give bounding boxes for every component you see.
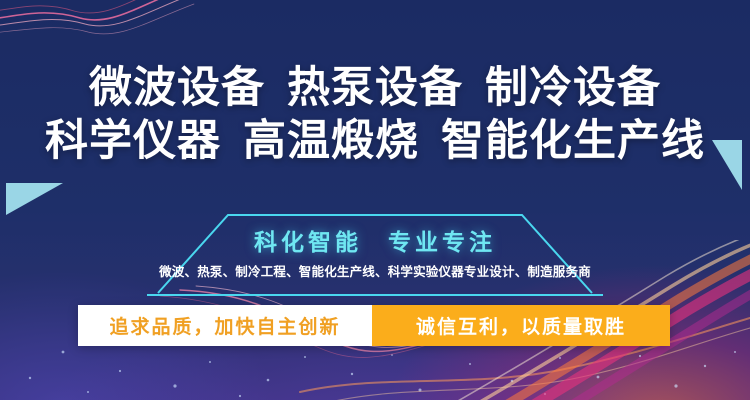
description-text: 微波、热泵、制冷工程、智能化生产线、科学实验仪器专业设计、制造服务商 [145, 261, 605, 280]
headline-word-1: 微波设备 [89, 62, 265, 115]
headline-word-6: 智能化生产线 [441, 115, 705, 168]
strip-right[interactable]: 诚信互利，以质量取胜 [372, 305, 670, 346]
headline-word-3: 制冷设备 [485, 62, 661, 115]
promo-banner: 微波设备热泵设备制冷设备 科学仪器高温煅烧智能化生产线 科化智能专业专注 微波、… [0, 0, 750, 400]
strip-left[interactable]: 追求品质，加快自主创新 [78, 305, 372, 346]
headline-line-2: 科学仪器高温煅烧智能化生产线 [0, 115, 750, 168]
headline-line-1: 微波设备热泵设备制冷设备 [0, 62, 750, 115]
headline-word-4: 科学仪器 [45, 115, 221, 168]
slogan-text: 科化智能专业专注 [145, 223, 605, 257]
headline-block: 微波设备热泵设备制冷设备 科学仪器高温煅烧智能化生产线 [0, 62, 750, 168]
slogan-panel: 科化智能专业专注 微波、热泵、制冷工程、智能化生产线、科学实验仪器专业设计、制造… [145, 205, 605, 297]
triangle-accent-left [6, 183, 63, 215]
slogan-right: 专业专注 [388, 229, 496, 255]
slogan-left: 科化智能 [254, 229, 362, 255]
headline-word-2: 热泵设备 [287, 62, 463, 115]
slogan-strip-group: 追求品质，加快自主创新 诚信互利，以质量取胜 [78, 305, 670, 346]
headline-word-5: 高温煅烧 [243, 115, 419, 168]
